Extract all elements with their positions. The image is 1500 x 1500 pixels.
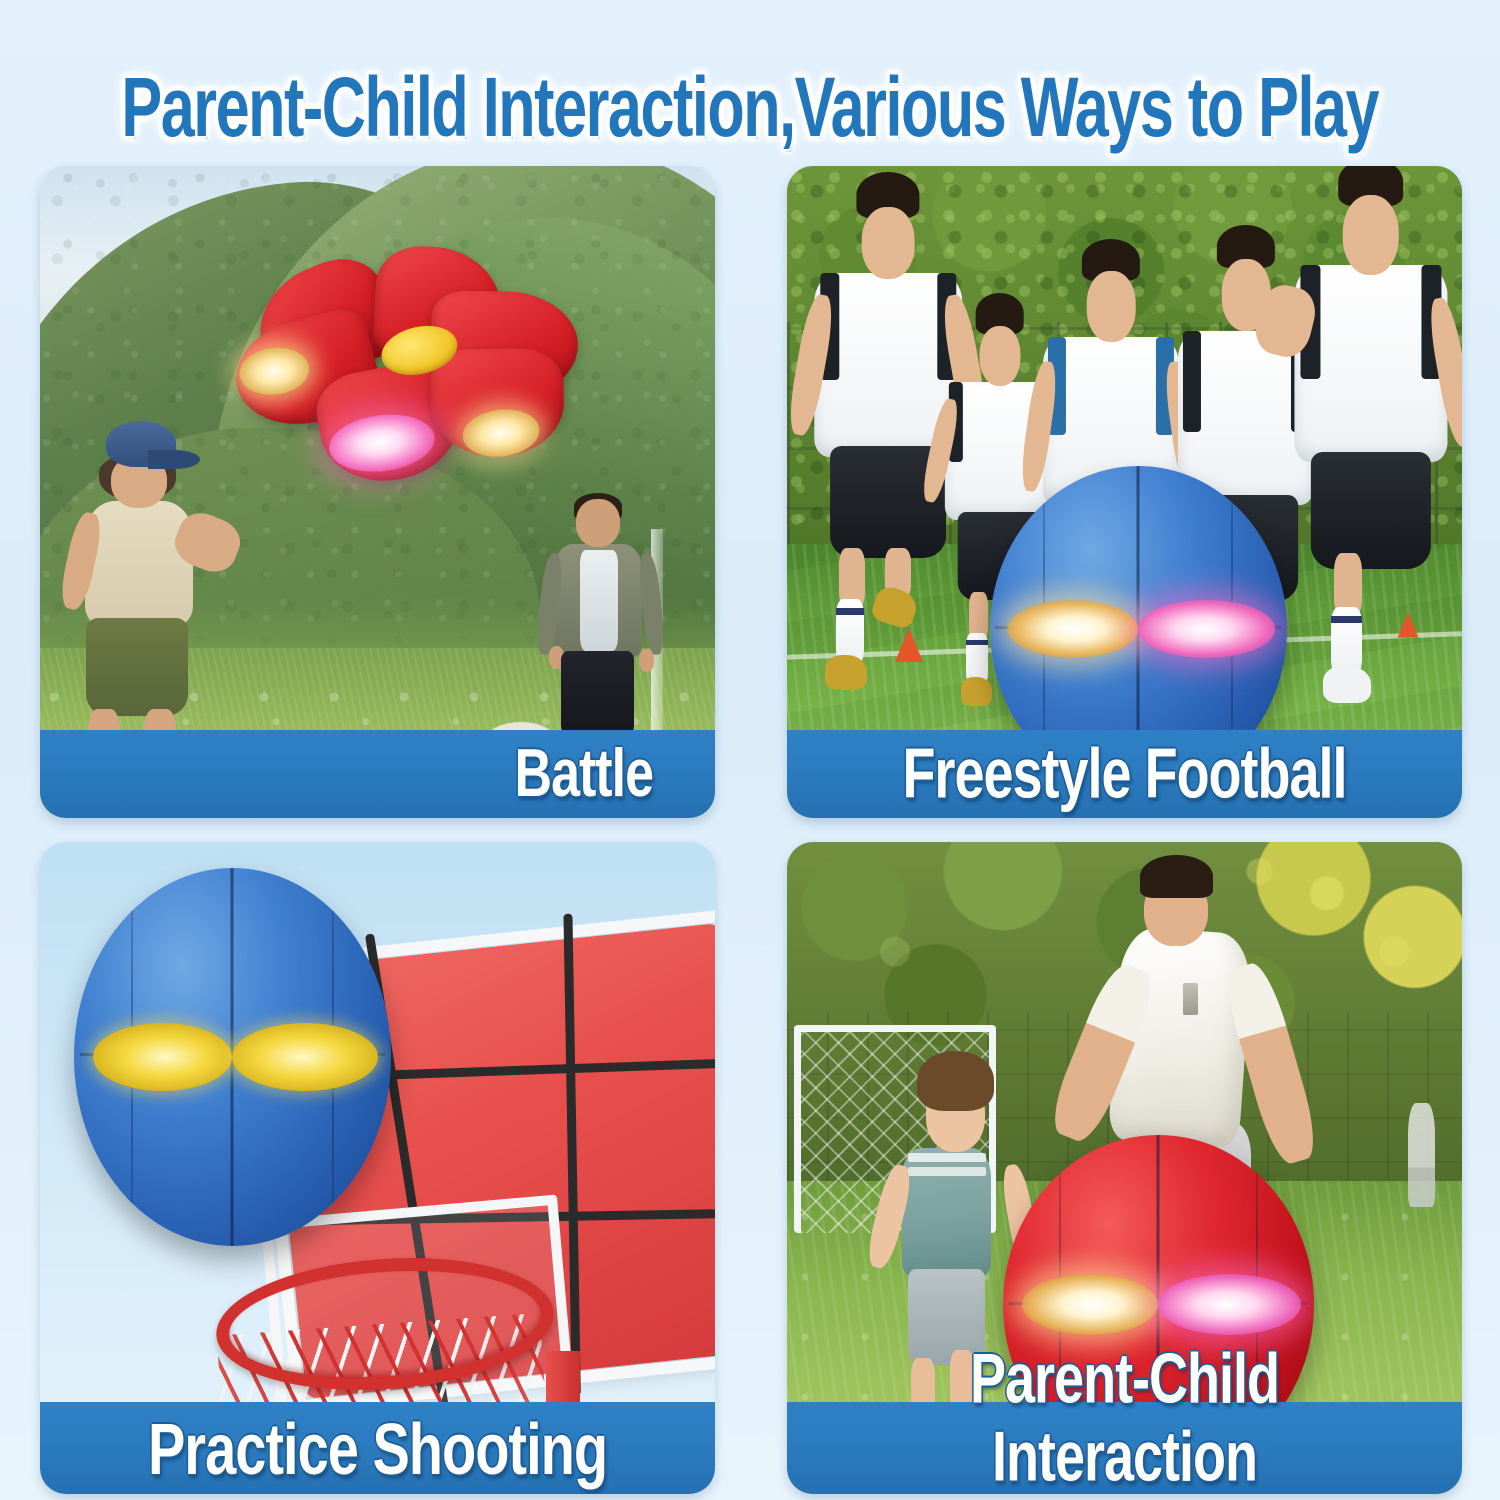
panel-parent-child-interaction[interactable]: Parent-Child Interaction [787,842,1462,1494]
child-hair [917,1051,994,1112]
child-head [1087,271,1136,341]
caption-bar-freestyle-football: Freestyle Football [787,730,1462,818]
freestyle-football-photo [787,166,1462,818]
man-head [576,499,620,547]
child-runner [1280,179,1462,714]
caption-label: Practice Shooting [148,1406,607,1491]
boy-shorts [86,618,188,716]
child-shoe [870,583,921,630]
panel-grid: Battle [40,166,1462,1494]
caption-bar-battle: Battle [40,730,715,818]
ball-led-gold [1022,1274,1159,1335]
ball-led-pink [1138,600,1275,659]
ball-led-yellow [93,1023,233,1091]
panel-freestyle-football[interactable]: Freestyle Football [787,166,1462,818]
page-title: Parent-Child Interaction,Various Ways to… [0,58,1500,158]
panel-practice-shooting[interactable]: Practice Shooting [40,842,715,1494]
man-shorts [561,651,634,741]
shirt-stripe [908,1153,986,1162]
jersey-stripe [1183,331,1201,432]
background-person [1408,1103,1435,1207]
panel-battle[interactable]: Battle [40,166,715,818]
caption-bar-practice-shooting: Practice Shooting [40,1402,715,1494]
caption-label-line1: Parent-Child [970,1339,1279,1420]
product-ball-blue [74,868,391,1246]
child-shoe [825,655,867,691]
page-title-text: Parent-Child Interaction,Various Ways to… [122,60,1379,156]
child-shirt [902,1148,991,1277]
child-shoe [1323,666,1370,703]
child-shoe [961,677,992,705]
ball-led-pink [1158,1274,1301,1335]
caption-label-line2: Interaction [992,1417,1257,1494]
child-jersey [1294,265,1447,463]
boy-cap-brim [148,450,201,469]
child-shorts [1311,452,1431,570]
shirt-stripe [908,1167,986,1176]
caption-parent-child-stack: Parent-Child Interaction [787,1348,1462,1488]
man-hand-right [639,649,654,673]
child-head [1343,195,1399,275]
caption-label: Freestyle Football [902,734,1346,815]
man-shirt [580,550,619,652]
child-head [862,207,915,278]
child-head [979,326,1020,387]
ball-led-yellow [232,1023,378,1091]
boy-shirt [85,501,194,626]
tshirt-logo [1183,983,1198,1015]
practice-shooting-photo [40,842,715,1494]
caption-label: Battle [515,735,653,813]
ball-led-gold [1007,600,1138,659]
battle-photo [40,166,715,818]
flying-disc-toy [223,230,600,506]
man-hair [1140,855,1213,898]
